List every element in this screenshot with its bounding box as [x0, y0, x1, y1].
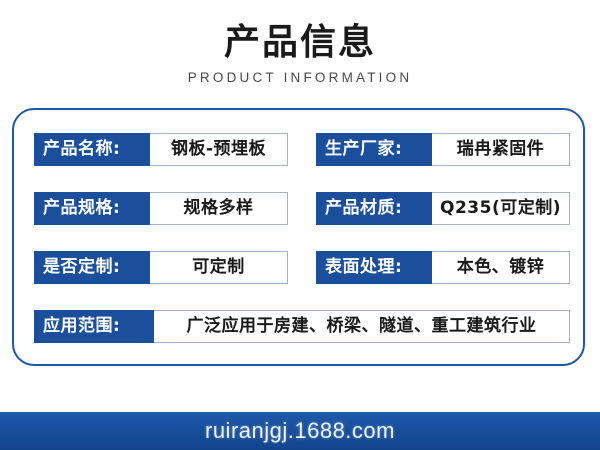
table-row: 应用范围: 广泛应用于房建、桥梁、隧道、重工建筑行业 — [34, 310, 570, 343]
field-value: 可定制 — [150, 251, 288, 284]
page-title-block: 产品信息 PRODUCT INFORMATION — [0, 22, 600, 86]
field-label: 生产厂家: — [316, 133, 432, 166]
field-label: 应用范围: — [34, 310, 154, 343]
footer-banner: ruiranjgj.1688.com — [0, 412, 600, 450]
field-specification: 产品规格: 规格多样 — [34, 192, 288, 225]
field-value: 本色、镀锌 — [432, 251, 570, 284]
field-label: 是否定制: — [34, 251, 150, 284]
field-product-name: 产品名称: 钢板-预埋板 — [34, 133, 288, 166]
table-row: 产品规格: 规格多样 产品材质: Q235(可定制) — [34, 192, 570, 225]
table-row: 是否定制: 可定制 表面处理: 本色、镀锌 — [34, 251, 570, 284]
shop-url: ruiranjgj.1688.com — [205, 418, 395, 444]
field-material: 产品材质: Q235(可定制) — [316, 192, 570, 225]
field-value: Q235(可定制) — [432, 192, 570, 225]
field-label: 表面处理: — [316, 251, 432, 284]
field-manufacturer: 生产厂家: 瑞冉紧固件 — [316, 133, 570, 166]
field-surface-treatment: 表面处理: 本色、镀锌 — [316, 251, 570, 284]
product-spec-table: 产品名称: 钢板-预埋板 生产厂家: 瑞冉紧固件 产品规格: 规格多样 产品材质… — [34, 133, 570, 343]
field-application-scope: 应用范围: 广泛应用于房建、桥梁、隧道、重工建筑行业 — [34, 310, 570, 343]
field-value: 钢板-预埋板 — [150, 133, 288, 166]
table-row: 产品名称: 钢板-预埋板 生产厂家: 瑞冉紧固件 — [34, 133, 570, 166]
field-label: 产品规格: — [34, 192, 150, 225]
field-value: 瑞冉紧固件 — [432, 133, 570, 166]
field-value: 规格多样 — [150, 192, 288, 225]
field-label: 产品名称: — [34, 133, 150, 166]
field-customizable: 是否定制: 可定制 — [34, 251, 288, 284]
page-subtitle: PRODUCT INFORMATION — [0, 70, 600, 86]
field-value: 广泛应用于房建、桥梁、隧道、重工建筑行业 — [154, 310, 570, 343]
page-title: 产品信息 — [0, 22, 600, 64]
field-label: 产品材质: — [316, 192, 432, 225]
